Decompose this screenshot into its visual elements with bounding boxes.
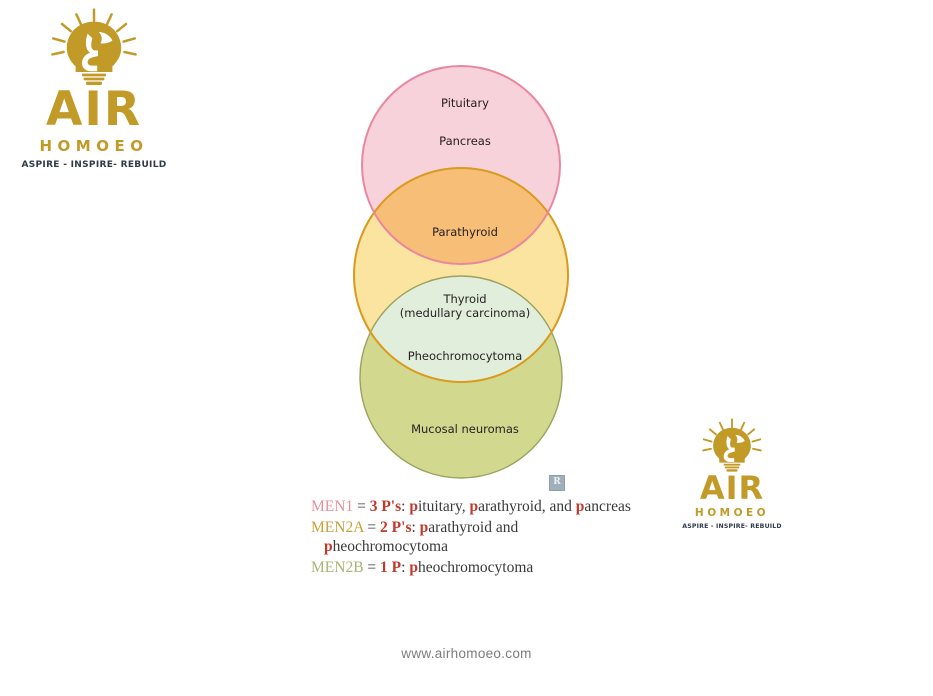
legend-key-men2a: MEN2A (311, 519, 364, 536)
legend-count-men2a: 2 P's (380, 519, 411, 536)
legend-p-2: p (324, 538, 333, 555)
legend-eq: = (364, 519, 381, 536)
brand-tagline: ASPIRE - INSPIRE- REBUILD (680, 523, 784, 530)
legend-item-men1: MEN1 = 3 P's: pituitary, parathyroid, an… (311, 497, 631, 517)
source-watermark-icon: R (549, 475, 565, 491)
legend-item-men2a: MEN2A = 2 P's: parathyroid and pheochrom… (311, 518, 631, 557)
brand-name: AIR (18, 86, 170, 133)
legend-eq: = (353, 498, 370, 515)
venn-svg (340, 50, 590, 500)
legend-count-men2b: 1 P (380, 559, 401, 576)
legend-count-men1: 3 P's (370, 498, 401, 515)
legend-word-1: arathyroid and (428, 519, 518, 536)
legend-word-3: ancreas (584, 498, 630, 515)
brand-logo-secondary: AIR HOMOEO ASPIRE - INSPIRE- REBUILD (680, 418, 784, 530)
lightbulb-with-rays-icon (696, 418, 768, 474)
legend-item-men2b: MEN2B = 1 P: pheochromocytoma (311, 558, 631, 578)
legend-word-1: ituitary, (418, 498, 470, 515)
venn-diagram: Pituitary Pancreas Parathyroid Thyroid (… (340, 50, 590, 500)
brand-logo-main: AIR HOMOEO ASPIRE - INSPIRE- REBUILD (18, 8, 170, 170)
legend-word-2: arathyroid, and (478, 498, 576, 515)
legend-p-1: p (420, 519, 429, 536)
footer-website-url[interactable]: www.airhomoeo.com (0, 646, 933, 661)
legend-key-men2b: MEN2B (311, 559, 364, 576)
brand-subname: HOMOEO (18, 137, 170, 155)
legend-word-2: heochromocytoma (333, 538, 448, 555)
legend-p-2: p (469, 498, 478, 515)
legend-word-1: heochromocytoma (418, 559, 533, 576)
legend-p-1: p (409, 559, 418, 576)
brand-name: AIR (680, 472, 784, 504)
legend-p-1: p (409, 498, 418, 515)
legend: MEN1 = 3 P's: pituitary, parathyroid, an… (311, 497, 631, 577)
brand-tagline: ASPIRE - INSPIRE- REBUILD (18, 160, 170, 170)
legend-key-men1: MEN1 (311, 498, 353, 515)
legend-eq: = (364, 559, 381, 576)
lightbulb-with-rays-icon (42, 8, 146, 88)
brand-subname: HOMOEO (680, 507, 784, 519)
legend-colon: : (411, 519, 419, 536)
